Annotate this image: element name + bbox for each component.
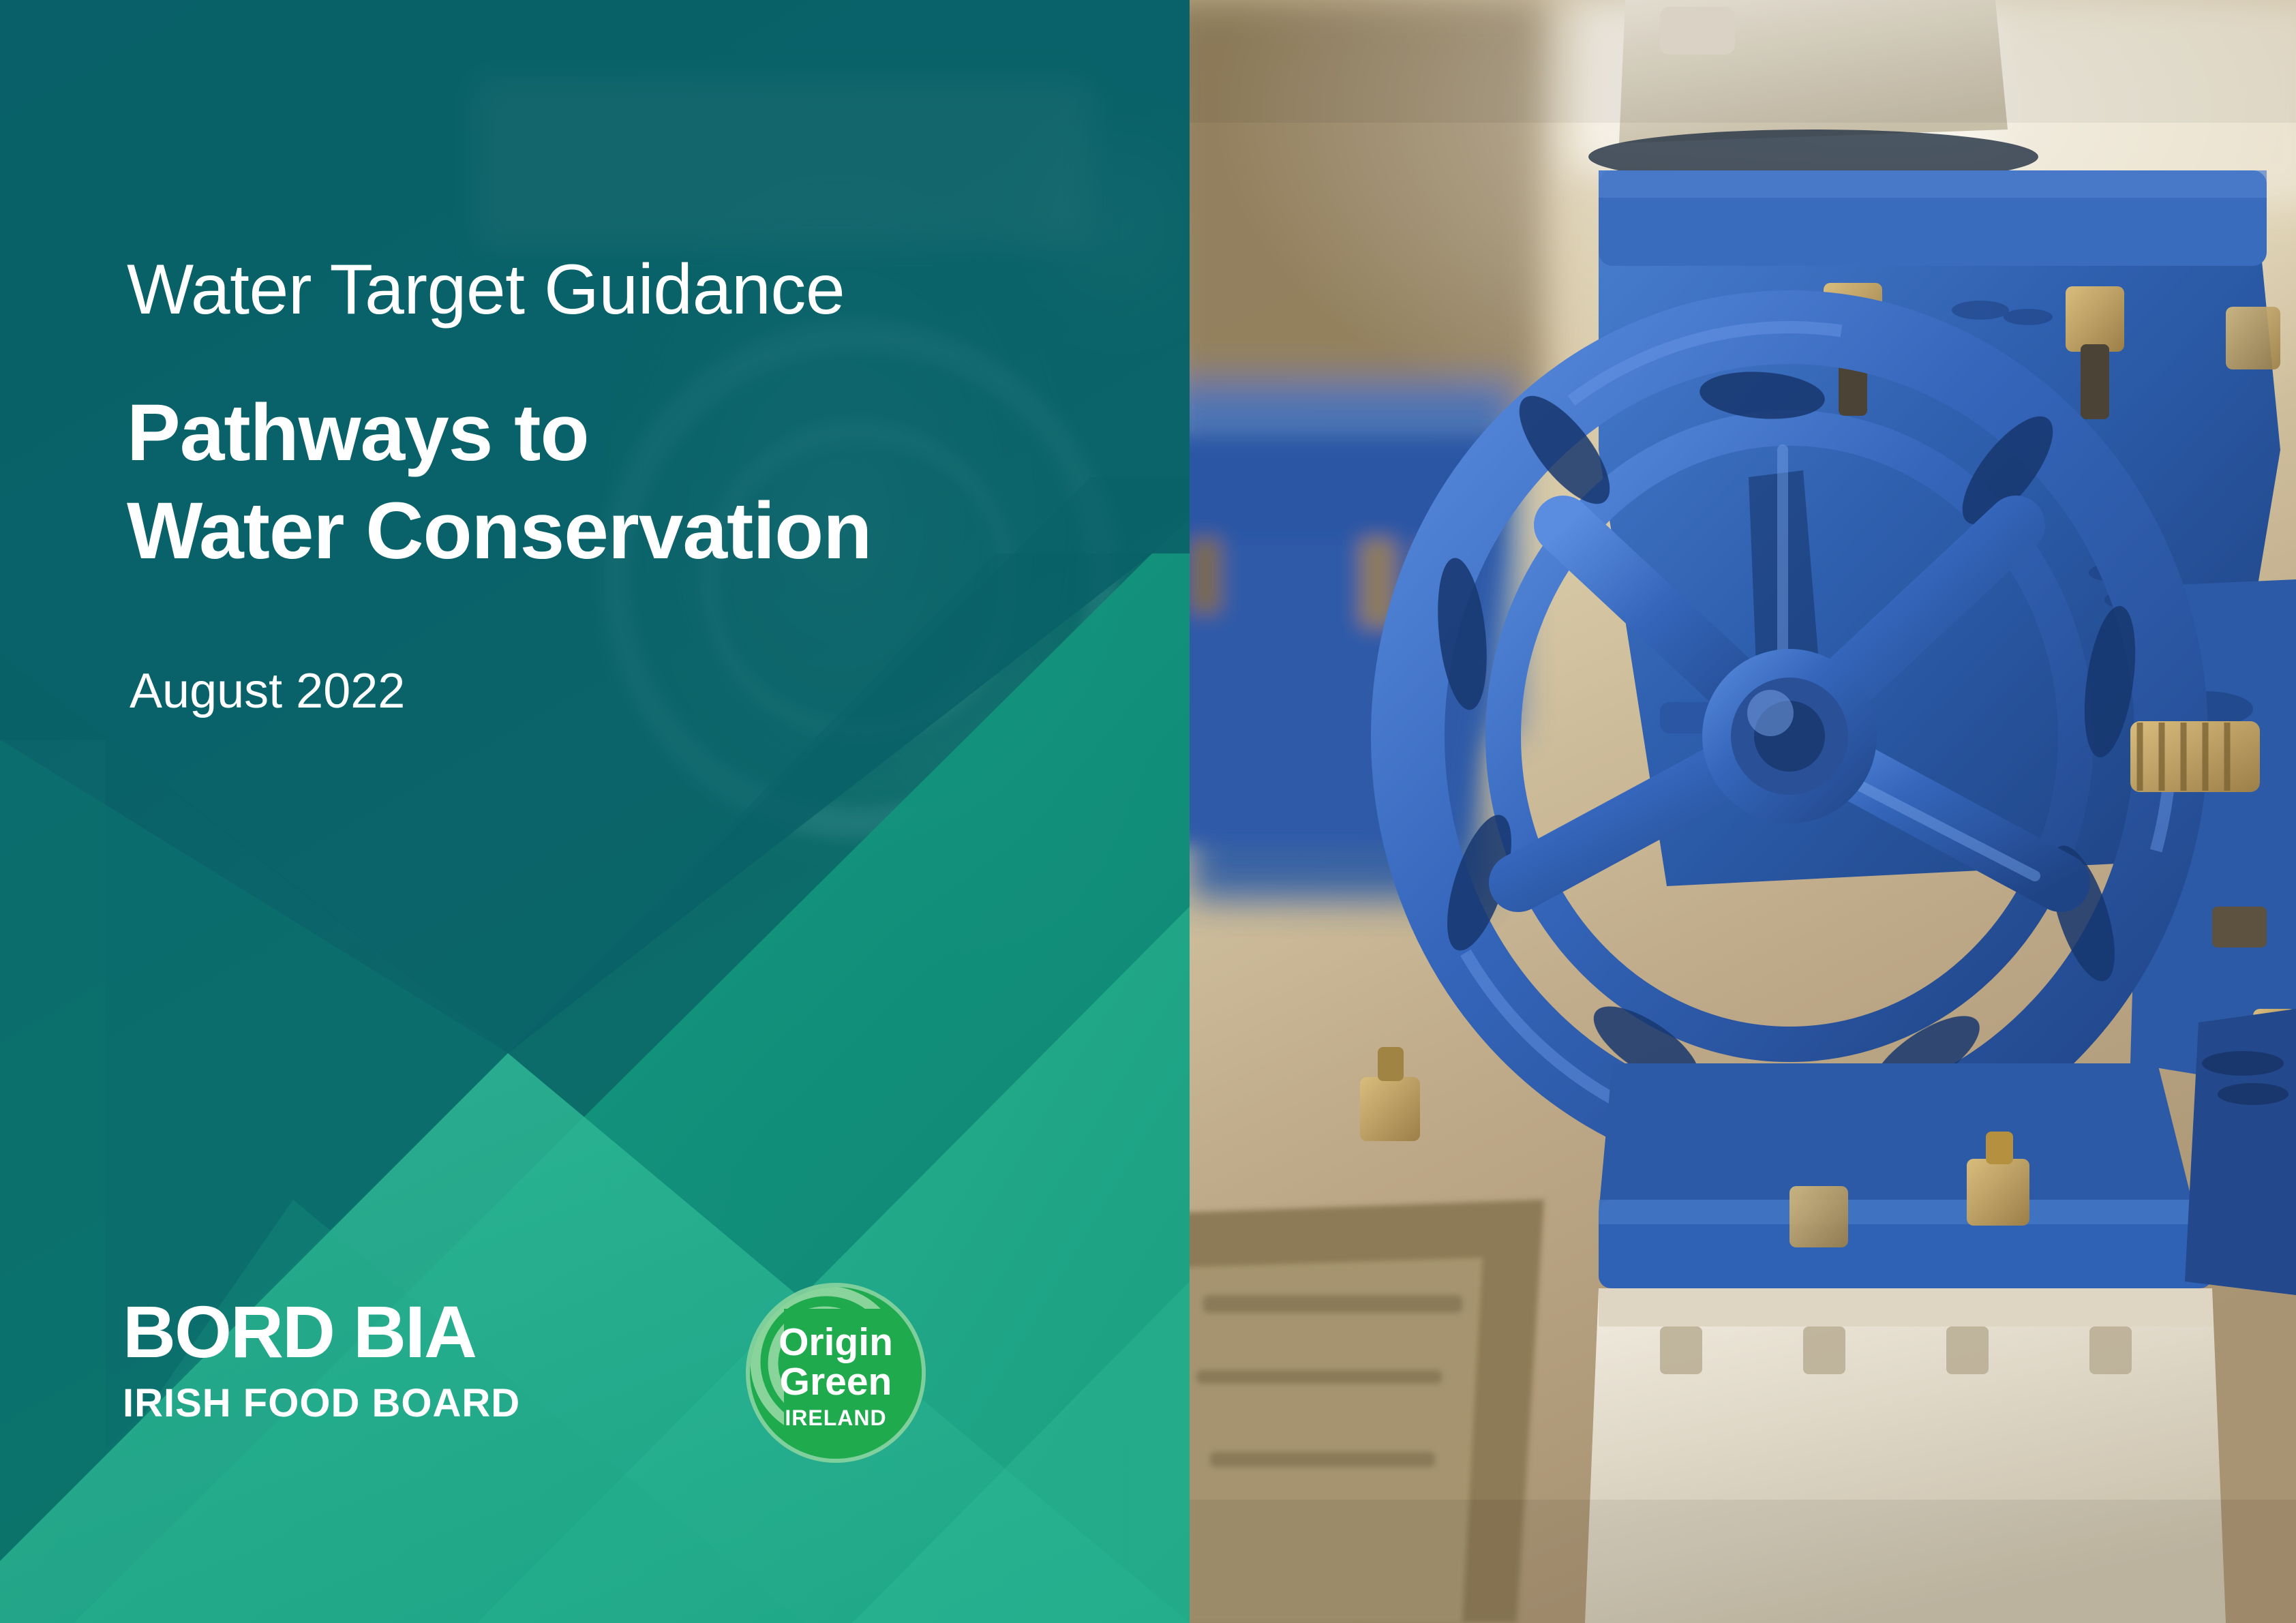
document-eyebrow: Water Target Guidance [127, 251, 845, 329]
left-panel-content: Water Target Guidance Pathways to Water … [0, 0, 1190, 1623]
bord-bia-logo: BORD BIA IRISH FOOD BOARD [123, 1295, 520, 1423]
origin-green-line2: Green [780, 1360, 892, 1404]
bord-bia-tagline: IRISH FOOD BOARD [123, 1384, 520, 1423]
origin-green-line3: IRELAND [785, 1406, 886, 1430]
left-branding-panel: Water Target Guidance Pathways to Water … [0, 0, 1190, 1623]
bord-bia-wordmark: BORD BIA [123, 1295, 520, 1369]
cover-photograph [1190, 0, 2296, 1623]
publication-date: August 2022 [130, 665, 405, 718]
origin-green-line1: Origin [779, 1320, 893, 1364]
origin-green-logo: Origin Green IRELAND [744, 1281, 927, 1464]
page-title: Pathways to Water Conservation [127, 384, 871, 581]
cover-page: Water Target Guidance Pathways to Water … [0, 0, 2296, 1623]
